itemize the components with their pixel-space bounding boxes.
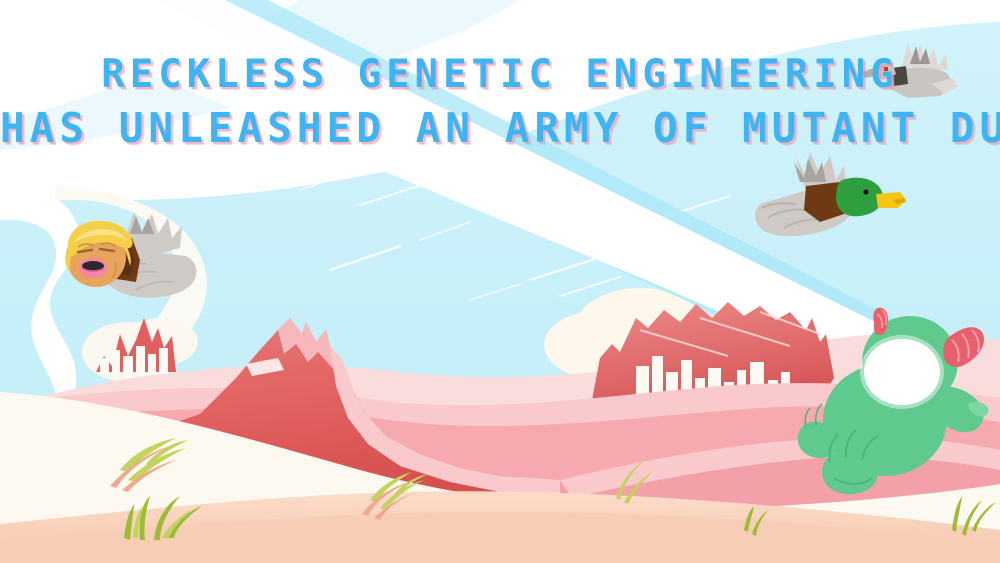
- scene-illustration: [0, 0, 1000, 563]
- scene-canvas: RECKLESS GENETIC ENGINEERING HAS UNLEASH…: [0, 0, 1000, 563]
